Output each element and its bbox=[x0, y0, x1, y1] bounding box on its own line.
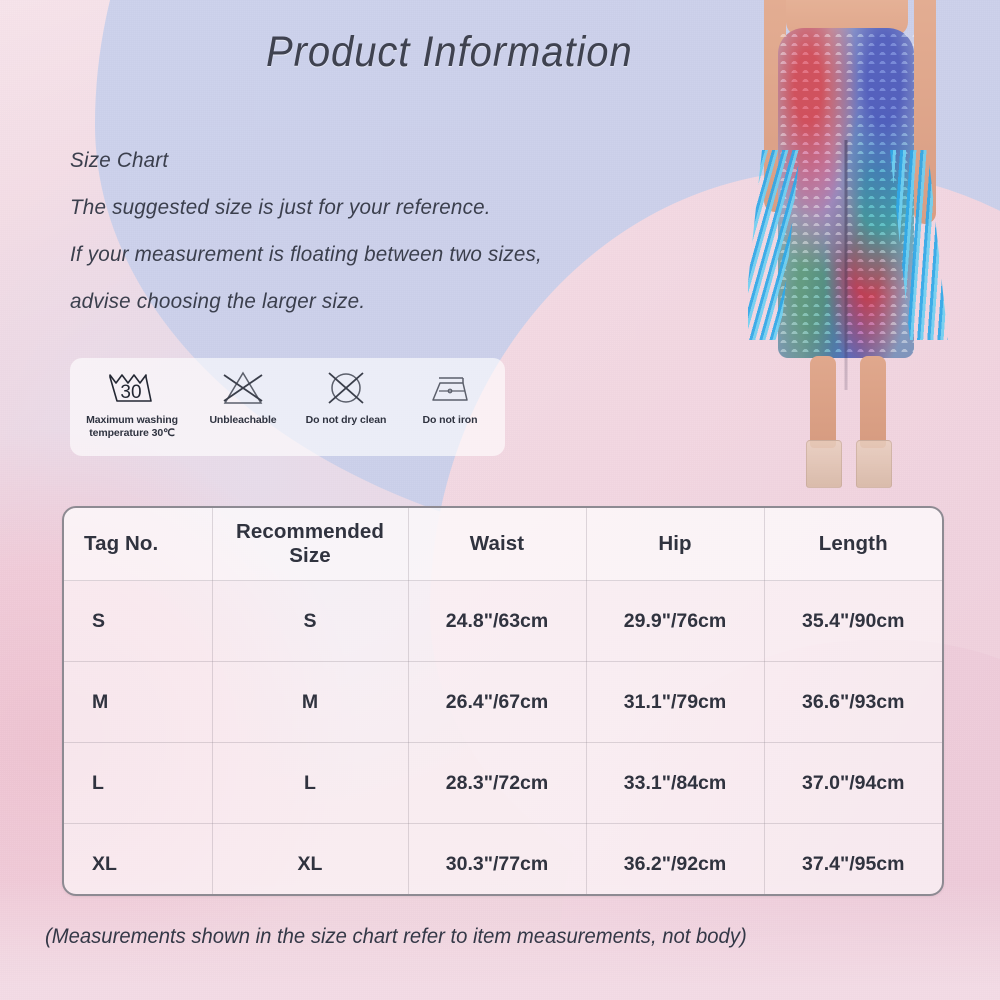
cell-waist-l: 28.3"/72cm bbox=[408, 743, 586, 824]
intro-line-2: If your measurement is floating between … bbox=[70, 242, 684, 267]
intro-heading: Size Chart bbox=[70, 148, 684, 173]
do-not-dry-clean-icon bbox=[324, 367, 368, 409]
cell-tag-s: S bbox=[64, 581, 212, 662]
product-photo bbox=[748, 0, 948, 496]
cell-length-m: 36.6"/93cm bbox=[764, 662, 942, 743]
size-chart-table-container: Tag No. Recommended Size Waist Hip Lengt… bbox=[62, 506, 944, 896]
cell-recommended-l: L bbox=[212, 743, 408, 824]
cell-tag-xl: XL bbox=[64, 824, 212, 897]
cell-recommended-s: S bbox=[212, 581, 408, 662]
do-not-iron-icon bbox=[427, 367, 473, 409]
table-row: XL XL 30.3"/77cm 36.2"/92cm 37.4"/95cm bbox=[64, 824, 942, 897]
table-row: L L 28.3"/72cm 33.1"/84cm 37.0"/94cm bbox=[64, 743, 942, 824]
size-chart-table: Tag No. Recommended Size Waist Hip Lengt… bbox=[64, 508, 942, 896]
cell-tag-l: L bbox=[64, 743, 212, 824]
page-title: Product Information bbox=[266, 28, 633, 77]
cell-length-s: 35.4"/90cm bbox=[764, 581, 942, 662]
model-right-shoe bbox=[856, 440, 892, 488]
model-right-calf bbox=[860, 356, 886, 448]
care-item-wash: 30 Maximum washing temperature 30℃ bbox=[70, 358, 194, 441]
model-left-calf bbox=[810, 356, 836, 448]
cell-recommended-xl: XL bbox=[212, 824, 408, 897]
care-label-wash: Maximum washing temperature 30℃ bbox=[86, 414, 178, 441]
column-header-recommended-size: Recommended Size bbox=[212, 508, 408, 581]
care-instructions-panel: 30 Maximum washing temperature 30℃ Unble… bbox=[70, 358, 505, 456]
cell-length-xl: 37.4"/95cm bbox=[764, 824, 942, 897]
wash-tub-30-icon: 30 bbox=[106, 367, 158, 409]
care-item-bleach: Unbleachable bbox=[194, 358, 292, 427]
column-header-tag-no: Tag No. bbox=[64, 508, 212, 581]
leg-separation-line bbox=[845, 140, 848, 390]
care-label-iron: Do not iron bbox=[423, 414, 478, 427]
cell-hip-m: 31.1"/79cm bbox=[586, 662, 764, 743]
cell-waist-s: 24.8"/63cm bbox=[408, 581, 586, 662]
cell-hip-s: 29.9"/76cm bbox=[586, 581, 764, 662]
cell-length-l: 37.0"/94cm bbox=[764, 743, 942, 824]
column-header-hip: Hip bbox=[586, 508, 764, 581]
svg-text:30: 30 bbox=[120, 382, 141, 403]
cell-hip-l: 33.1"/84cm bbox=[586, 743, 764, 824]
column-header-length: Length bbox=[764, 508, 942, 581]
care-label-bleach: Unbleachable bbox=[209, 414, 276, 427]
intro-line-1: The suggested size is just for your refe… bbox=[70, 195, 684, 220]
cell-tag-m: M bbox=[64, 662, 212, 743]
table-row: S S 24.8"/63cm 29.9"/76cm 35.4"/90cm bbox=[64, 581, 942, 662]
do-not-bleach-icon bbox=[220, 367, 266, 409]
cell-recommended-m: M bbox=[212, 662, 408, 743]
model-left-shoe bbox=[806, 440, 842, 488]
intro-line-3: advise choosing the larger size. bbox=[70, 289, 684, 314]
cell-hip-xl: 36.2"/92cm bbox=[586, 824, 764, 897]
table-header-row: Tag No. Recommended Size Waist Hip Lengt… bbox=[64, 508, 942, 581]
size-chart-intro: Size Chart The suggested size is just fo… bbox=[70, 148, 710, 314]
measurement-disclaimer: (Measurements shown in the size chart re… bbox=[45, 925, 747, 949]
care-label-dry-clean: Do not dry clean bbox=[306, 414, 387, 427]
care-item-iron: Do not iron bbox=[400, 358, 500, 427]
column-header-waist: Waist bbox=[408, 508, 586, 581]
table-row: M M 26.4"/67cm 31.1"/79cm 36.6"/93cm bbox=[64, 662, 942, 743]
cell-waist-xl: 30.3"/77cm bbox=[408, 824, 586, 897]
cell-waist-m: 26.4"/67cm bbox=[408, 662, 586, 743]
care-item-dry-clean: Do not dry clean bbox=[292, 358, 400, 427]
product-information-page: Product Information Size Chart The sugge… bbox=[0, 0, 1000, 1000]
